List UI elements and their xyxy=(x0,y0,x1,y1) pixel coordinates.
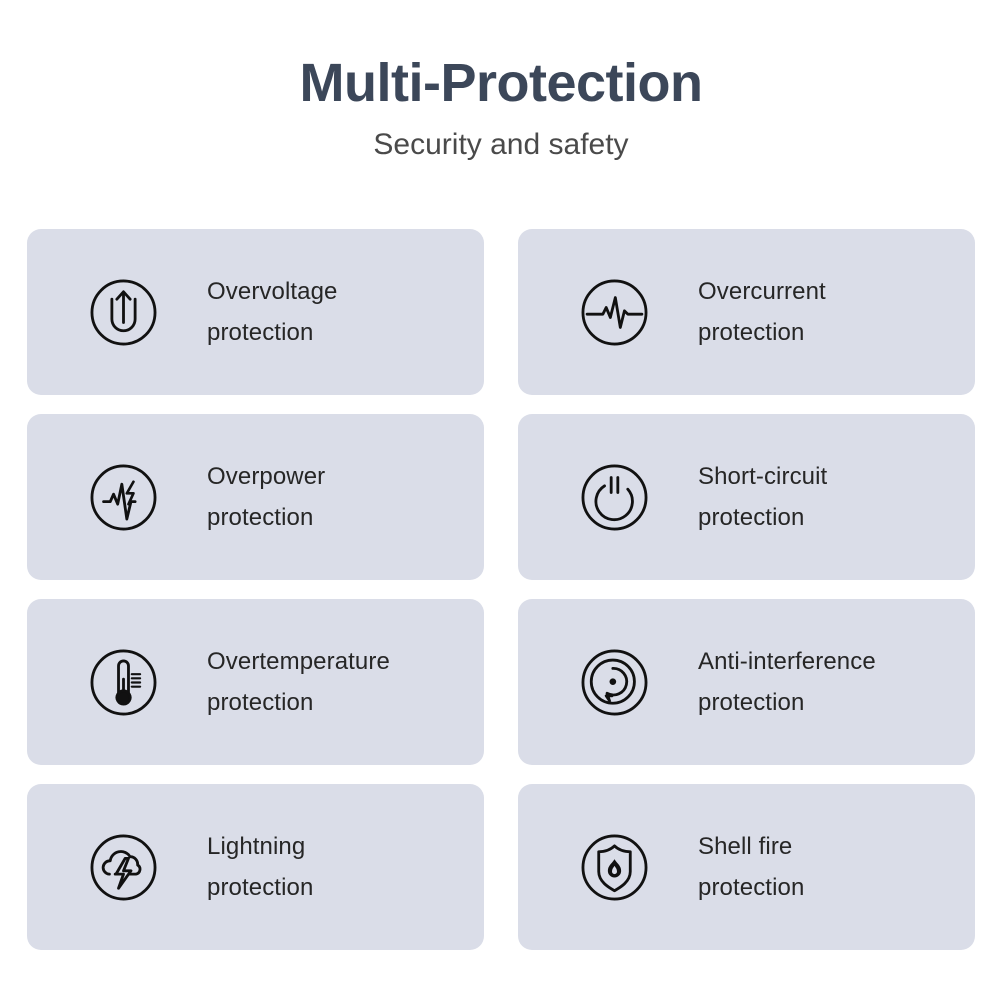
feature-label: Overtemperature protection xyxy=(207,641,390,723)
feature-label: Shell fire protection xyxy=(698,826,804,908)
feature-card-overvoltage[interactable]: Overvoltage protection xyxy=(27,229,484,395)
feature-label: Overvoltage protection xyxy=(207,271,338,353)
feature-label: Anti-interference protection xyxy=(698,641,876,723)
feature-card-lightning[interactable]: Lightning protection xyxy=(27,784,484,950)
overtemperature-icon xyxy=(82,641,165,724)
page-title: Multi-Protection xyxy=(0,56,1002,110)
feature-card-shell-fire[interactable]: Shell fire protection xyxy=(518,784,975,950)
anti-interference-icon xyxy=(573,641,656,724)
short-circuit-icon xyxy=(573,456,656,539)
page-header: Multi-Protection Security and safety xyxy=(0,0,1002,160)
feature-card-overcurrent[interactable]: Overcurrent protection xyxy=(518,229,975,395)
feature-card-anti-interference[interactable]: Anti-interference protection xyxy=(518,599,975,765)
feature-label: Overpower protection xyxy=(207,456,325,538)
feature-label: Lightning protection xyxy=(207,826,313,908)
shell-fire-icon xyxy=(573,826,656,909)
protection-feature-grid: Overvoltage protection Overcurrent prote… xyxy=(27,229,975,950)
feature-label: Overcurrent protection xyxy=(698,271,826,353)
lightning-icon xyxy=(82,826,165,909)
feature-card-short-circuit[interactable]: Short-circuit protection xyxy=(518,414,975,580)
overpower-icon xyxy=(82,456,165,539)
overcurrent-icon xyxy=(573,271,656,354)
feature-card-overpower[interactable]: Overpower protection xyxy=(27,414,484,580)
page-subtitle: Security and safety xyxy=(0,110,1002,160)
multi-protection-page: Multi-Protection Security and safety Ove… xyxy=(0,0,1002,1002)
feature-label: Short-circuit protection xyxy=(698,456,827,538)
feature-card-overtemperature[interactable]: Overtemperature protection xyxy=(27,599,484,765)
overvoltage-icon xyxy=(82,271,165,354)
